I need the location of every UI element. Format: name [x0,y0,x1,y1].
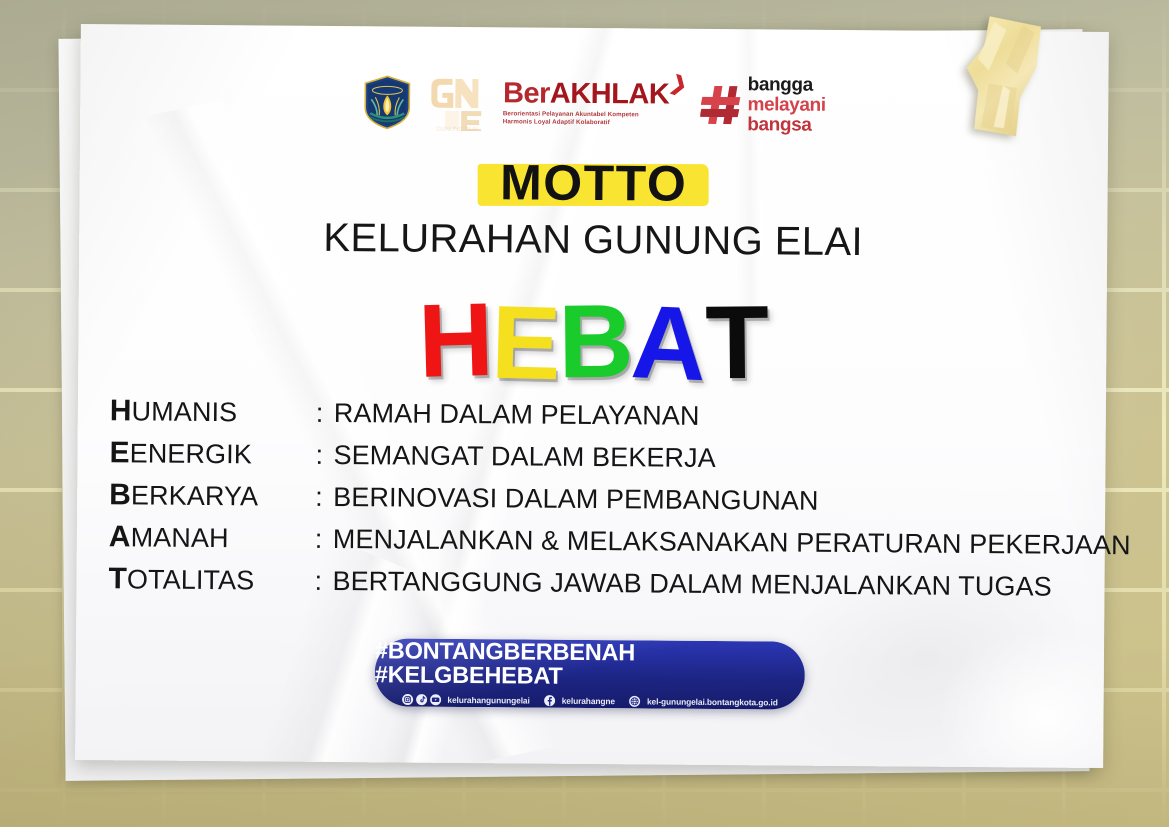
hebat-letter-h: H [417,288,493,394]
social-group-website[interactable]: kel-gunungelai.bontangkota.go.id [629,695,778,708]
logo-row: GUNUNG ELAI BerAKHLAK❯ Berorientasi Pela… [80,70,1108,137]
globe-icon[interactable] [629,695,641,707]
hashtags-text: #BONTANGBERBENAH #KELGBEHEBAT [375,639,805,689]
bontang-city-emblem-icon [363,75,411,129]
bangga-line-3: bangsa [747,115,825,135]
poster-root: GUNUNG ELAI BerAKHLAK❯ Berorientasi Pela… [0,0,1169,827]
social-handle[interactable]: kelurahangne [562,696,615,706]
acronym-initial: E [109,436,129,469]
acronym-key-rest: UMANIS [132,396,238,427]
acronym-row: EENERGIK : SEMANGAT DALAM BEKERJA [109,436,1069,478]
berakhlak-main: AKHLAK [550,79,670,109]
acronym-initial: B [109,478,131,511]
acronym-key: EENERGIK [109,436,315,472]
acronym-colon: : [316,398,334,429]
acronym-row: TOTALITAS : BERTANGGUNG JAWAB DALAM MENJ… [108,562,1068,604]
social-icon-set [629,695,641,707]
berakhlak-tagline: Berorientasi Pelayanan Akuntabel Kompete… [503,110,639,128]
acronym-key: BERKARYA [109,478,315,514]
hebat-letter-a: A [630,290,707,397]
acronym-key-rest: MANAH [131,522,229,553]
acronym-row: AMANAH : MENJALANKAN & MELAKSANAKAN PERA… [109,520,1069,562]
motto-highlight: MOTTO [478,153,710,213]
acronym-value: SEMANGAT DALAM BEKERJA [333,440,716,474]
svg-text:GUNUNG ELAI: GUNUNG ELAI [436,126,478,130]
acronym-row: BERKARYA : BERINOVASI DALAM PEMBANGUNAN [109,478,1069,520]
acronym-colon: : [315,482,333,513]
hebat-acronym-word: HEBAT [78,286,1107,398]
acronym-key-rest: ERKARYA [131,480,258,511]
social-group-instagram-tiktok-youtube[interactable]: kelurahangunungelai [401,694,529,707]
acronym-key-rest: OTALITAS [127,564,255,595]
page-subtitle: KELURAHAN GUNUNG ELAI [79,214,1107,267]
acronym-key-rest: ENERGIK [130,438,252,469]
youtube-icon[interactable] [429,694,441,706]
page-title: MOTTO [500,154,688,211]
acronym-colon: : [314,566,332,597]
berakhlak-prefix: Ber [503,79,550,108]
heading-block: MOTTO KELURAHAN GUNUNG ELAI [79,150,1108,267]
social-icon-set [544,695,556,707]
acronym-value: BERTANGGUNG JAWAB DALAM MENJALANKAN TUGA… [332,566,1051,603]
acronym-list: HUMANIS : RAMAH DALAM PELAYANAN EENERGIK… [108,394,1070,612]
acronym-value: RAMAH DALAM PELAYANAN [334,398,700,432]
bangga-wordmark: bangga melayani bangsa [747,75,826,135]
instagram-icon[interactable] [401,694,413,706]
hebat-letter-b: B [558,290,632,395]
social-handle[interactable]: kelurahangunungelai [447,695,529,706]
social-group-facebook[interactable]: kelurahangne [544,695,615,708]
gne-monogram-logo-icon: GUNUNG ELAI [425,74,489,131]
berakhlak-wordmark: BerAKHLAK❯ [503,79,687,109]
social-icon-set [401,694,441,706]
facebook-icon[interactable] [544,695,556,707]
hashtag-icon [700,82,742,126]
acronym-key: TOTALITAS [108,562,314,598]
footer-hashtag-banner: #BONTANGBERBENAH #KELGBEHEBAT [375,638,806,709]
acronym-initial: A [109,520,131,553]
bangga-melayani-bangsa-logo: bangga melayani bangsa [700,75,826,135]
acronym-key: HUMANIS [110,394,316,430]
acronym-row: HUMANIS : RAMAH DALAM PELAYANAN [110,394,1070,436]
acronym-value: BERINOVASI DALAM PEMBANGUNAN [333,482,819,517]
bangga-line-1: bangga [748,75,826,95]
poster-content: GUNUNG ELAI BerAKHLAK❯ Berorientasi Pela… [75,24,1109,768]
berakhlak-tagline-line2: Harmonis Loyal Adaptif Kolaboratif [503,118,639,127]
acronym-key: AMANAH [109,520,315,556]
social-links-row: kelurahangunungelai kelurahangne [401,694,777,709]
acronym-colon: : [315,524,333,555]
hebat-letter-e: E [490,291,560,397]
bangga-line-2: melayani [747,95,825,115]
acronym-initial: H [110,394,132,427]
social-handle[interactable]: kel-gunungelai.bontangkota.go.id [647,696,778,707]
berakhlak-logo: BerAKHLAK❯ Berorientasi Pelayanan Akunta… [503,79,687,128]
acronym-colon: : [315,440,333,471]
tiktok-icon[interactable] [415,694,427,706]
acronym-value: MENJALANKAN & MELAKSANAKAN PERATURAN PEK… [333,524,1131,561]
acronym-initial: T [108,562,127,595]
hebat-letter-t: T [705,291,768,396]
berakhlak-arrow-icon: ❯ [668,72,690,96]
